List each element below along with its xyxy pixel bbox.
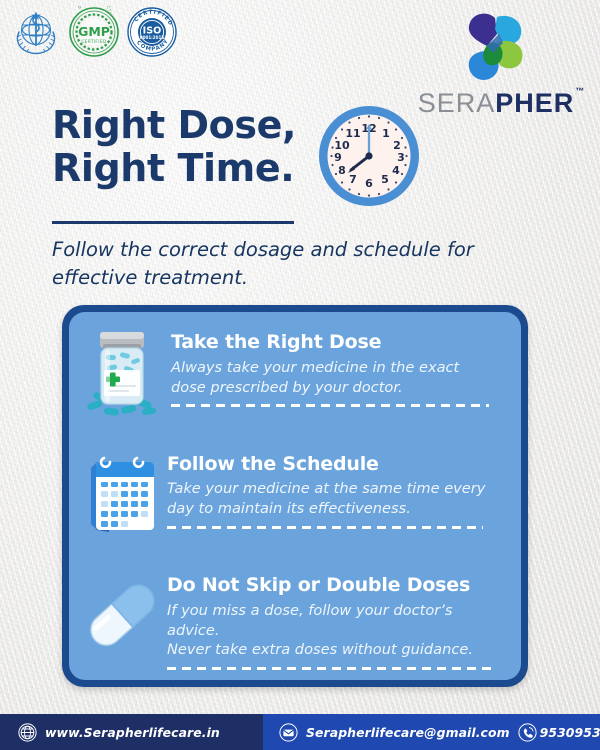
tip-title-dose: Take the Right Dose (171, 332, 505, 353)
footer-phone-text: 9530953095 (540, 725, 600, 740)
certification-badges: GMP CERTIFIED GOOD MANUFACTURING PRACTIC… (10, 6, 178, 58)
tip-divider-dose (171, 404, 489, 407)
tip-text-no-double-dose-line1: If you miss a dose, follow your doctor’s… (167, 601, 505, 640)
tips-card: Take the Right Dose Always take your med… (62, 305, 528, 687)
wall-clock-icon: 12 1 2 3 4 5 6 7 8 9 10 11 (317, 104, 421, 208)
calendar-icon (79, 446, 165, 542)
tip-item-dose: Take the Right Dose Always take your med… (79, 324, 505, 420)
headline-line-1: Right Dose, (52, 104, 296, 147)
serapher-mark-icon (457, 12, 535, 86)
svg-text:1: 1 (382, 127, 390, 140)
tip-text-dose-line1: Always take your medicine in the exact (171, 358, 505, 378)
envelope-icon (279, 723, 298, 742)
tip-text-schedule-line2: day to maintain its effectiveness. (167, 499, 505, 519)
svg-text:GMP: GMP (78, 24, 110, 39)
subtitle: Follow the correct dosage and schedule f… (52, 236, 482, 291)
footer-bar: www.Serapherlifecare.in Serapherlifecare… (0, 714, 600, 750)
brand-wordmark: SERAPHER™ (418, 90, 575, 117)
svg-text:6: 6 (365, 177, 373, 190)
tip-title-no-double-dose: Do Not Skip or Double Doses (167, 575, 505, 596)
trademark-symbol: ™ (575, 87, 585, 96)
tip-item-no-double-dose: Do Not Skip or Double Doses If you miss … (79, 567, 505, 670)
tip-divider-schedule (167, 526, 483, 529)
headline-line-2: Right Time. (52, 147, 296, 190)
footer-contact-section: Serapherlifecare@gmail.com 9530953095 (263, 714, 600, 750)
footer-email-text: Serapherlifecare@gmail.com (306, 725, 510, 740)
svg-text:CERTIFIED: CERTIFIED (81, 39, 106, 44)
who-logo-icon (10, 6, 62, 58)
brand-word-sera: SERA (418, 88, 496, 118)
svg-text:11: 11 (345, 127, 360, 140)
medicine-bottle-icon (79, 324, 165, 420)
poster-canvas: GMP CERTIFIED GOOD MANUFACTURING PRACTIC… (0, 0, 600, 750)
phone-icon (518, 723, 537, 742)
svg-text:9: 9 (334, 151, 342, 164)
svg-text:3: 3 (397, 151, 405, 164)
svg-text:8: 8 (338, 164, 346, 177)
brand-word-pher: PHER (495, 88, 574, 118)
svg-text:5: 5 (381, 173, 389, 186)
tip-divider-no-double-dose (167, 667, 497, 670)
tip-text-schedule-line1: Take your medicine at the same time ever… (167, 479, 505, 499)
tip-title-schedule: Follow the Schedule (167, 454, 505, 475)
brand-logo: SERAPHER™ (406, 12, 586, 117)
footer-website-section[interactable]: www.Serapherlifecare.in (0, 714, 263, 750)
tip-body-no-double-dose: Do Not Skip or Double Doses If you miss … (167, 567, 505, 670)
svg-text:9001:2015: 9001:2015 (140, 35, 165, 40)
svg-text:4: 4 (392, 164, 400, 177)
tips-card-inner: Take the Right Dose Always take your med… (69, 312, 521, 680)
tip-text-dose-line2: dose prescribed by your doctor. (171, 378, 505, 398)
iso-badge-icon: ISO 9001:2015 CERTIFIED COMPANY (126, 6, 178, 58)
footer-website-text: www.Serapherlifecare.in (45, 725, 220, 740)
tip-body-schedule: Follow the Schedule Take your medicine a… (167, 446, 505, 529)
tip-body-dose: Take the Right Dose Always take your med… (171, 324, 505, 407)
globe-icon (18, 723, 37, 742)
title-divider (52, 221, 294, 224)
svg-text:10: 10 (334, 139, 350, 152)
page-title: Right Dose, Right Time. (52, 104, 296, 190)
footer-phone-group[interactable]: 9530953095 (518, 723, 600, 742)
gmp-badge-icon: GMP CERTIFIED GOOD MANUFACTURING PRACTIC… (68, 6, 120, 58)
svg-text:7: 7 (349, 173, 357, 186)
tip-item-schedule: Follow the Schedule Take your medicine a… (79, 446, 505, 542)
capsule-pill-icon (79, 567, 165, 663)
tip-text-no-double-dose-line2: Never take extra doses without guidance. (167, 640, 505, 660)
